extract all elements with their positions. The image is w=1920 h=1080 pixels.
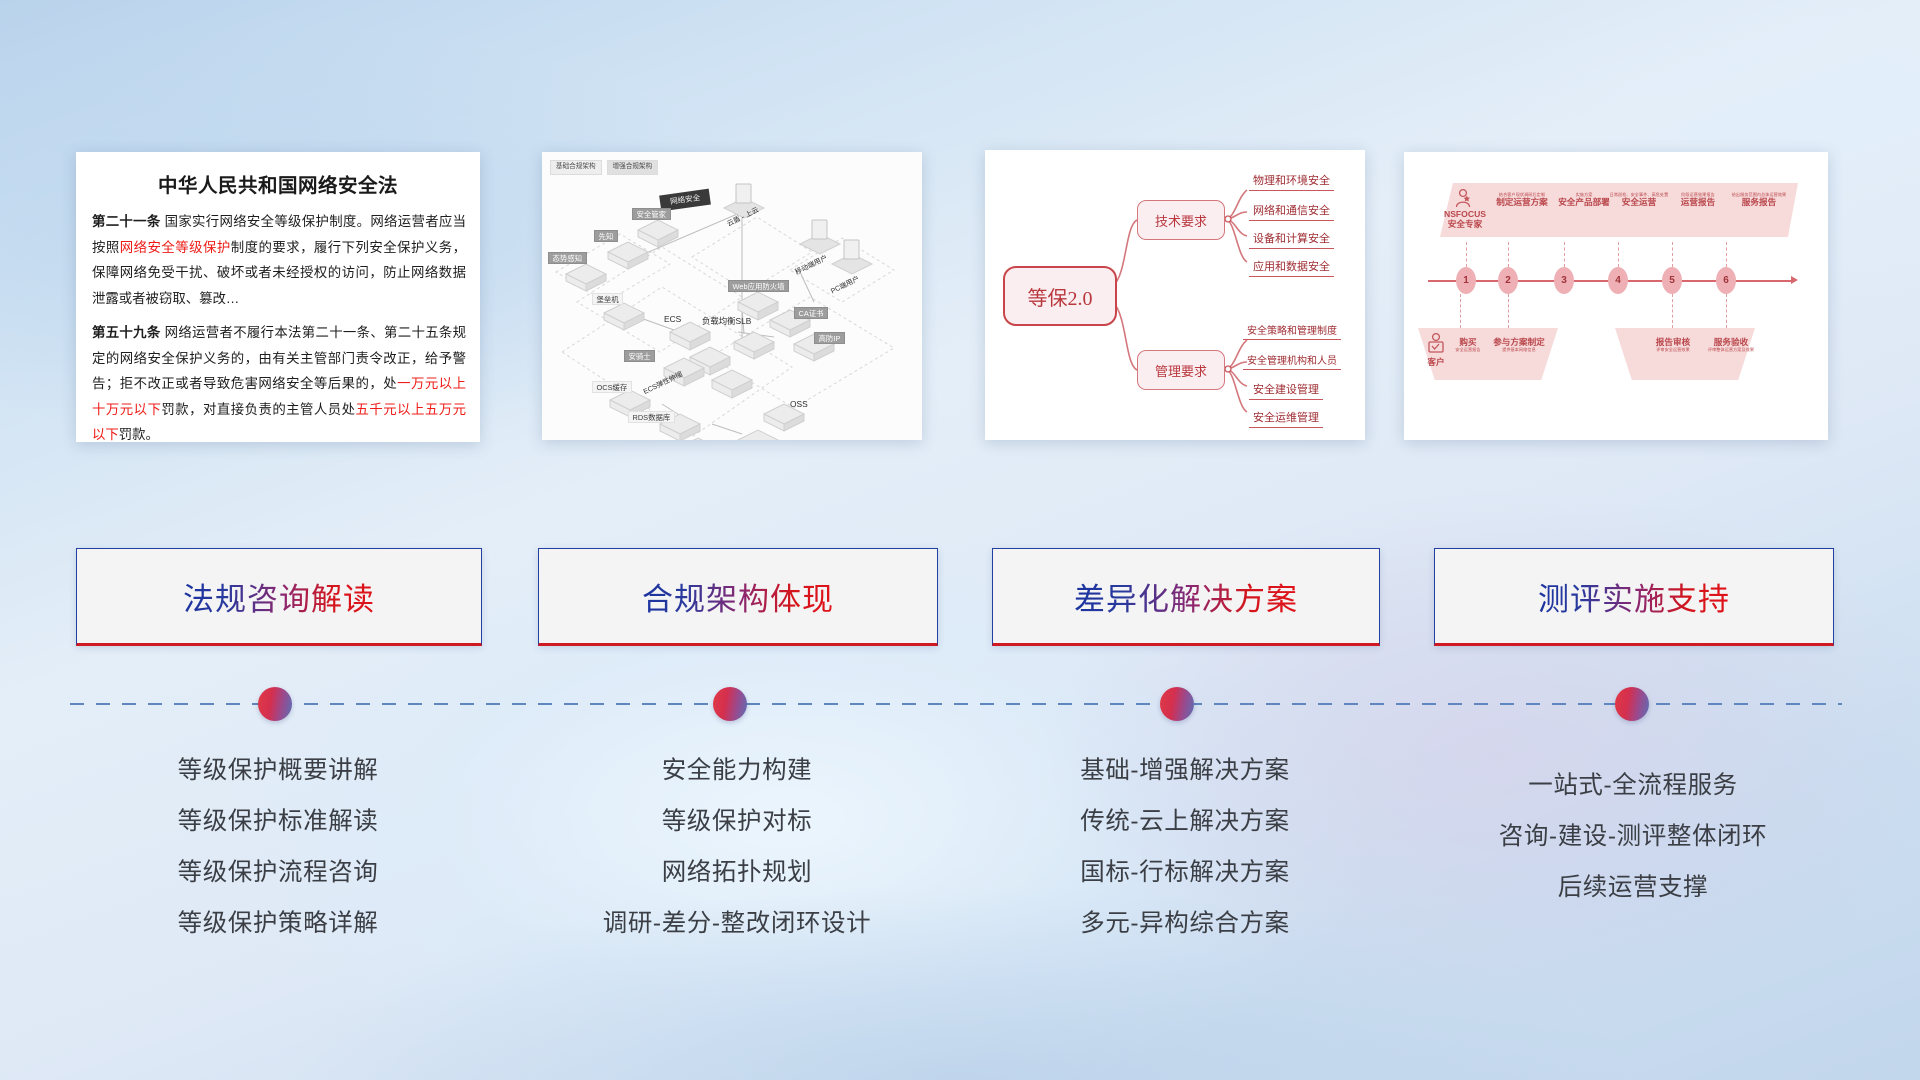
timeline-marker-3[interactable]: [1160, 687, 1194, 721]
card-cloud-architecture[interactable]: 基础合规架构 增强合规架构: [542, 152, 922, 440]
timeline-node-3: 3: [1554, 267, 1574, 294]
list-item: 多元-异构综合方案: [992, 898, 1378, 949]
node-waf: Web应用防火墙: [728, 280, 789, 292]
tick-b1: [1460, 294, 1462, 328]
section-title-label-4: 测评实施支持: [1538, 574, 1730, 619]
bottom-step-4: 服务验收 评审整体运营方案及效果: [1700, 338, 1762, 353]
section-title-label-2: 合规架构体现: [642, 574, 834, 619]
timeline-node-6: 6: [1716, 267, 1736, 294]
timeline-node-1: 1: [1456, 267, 1476, 294]
list-item: 一站式-全流程服务: [1434, 760, 1832, 811]
node-ca-certificate: CA证书: [794, 307, 828, 319]
list-item: 咨询-建设-测评整体闭环: [1434, 811, 1832, 862]
timeline-dashed-rail: [70, 703, 1842, 705]
list-item: 传统-云上解决方案: [992, 796, 1378, 847]
top-step-4: 阶段运营效果报告 运营报告: [1666, 193, 1730, 208]
mindmap-leaf-org-personnel: 安全管理机构和人员: [1243, 352, 1341, 370]
node-ocs-cache: OCS缓存: [592, 381, 632, 393]
bottom-step-3: 报告审核 评审安全运营效果: [1644, 338, 1702, 353]
timeline-marker-2[interactable]: [713, 687, 747, 721]
section-titles-row: 法规咨询解读 合规架构体现 差异化解决方案 测评实施支持: [0, 548, 1920, 658]
list-item: 基础-增强解决方案: [992, 745, 1378, 796]
mindmap-branch-management: 管理要求: [1137, 350, 1225, 390]
law-article-number-21: 第二十一条: [92, 214, 161, 229]
timeline-marker-1[interactable]: [258, 687, 292, 721]
list-item: 调研-差分-整改闭环设计: [538, 898, 936, 949]
architecture-canvas: 基础合规架构 增强合规架构: [542, 152, 922, 440]
node-slb: 负载均衡SLB: [702, 317, 751, 325]
list-item: 等级保护概要讲解: [76, 745, 480, 796]
mindmap-leaf-network-comm: 网络和通信安全: [1249, 202, 1334, 221]
mindmap-leaf-app-data: 应用和数据安全: [1249, 258, 1334, 277]
timeline-node-4: 4: [1608, 267, 1628, 294]
nsfocus-canvas: NSFOCUS 安全专家 结合客户现状调研后定制 制定运营方案 实施方案 安全产…: [1404, 152, 1828, 440]
node-situational-awareness: 态势感知: [548, 252, 587, 264]
tick-4: [1618, 242, 1620, 267]
node-anqishi: 安骑士: [624, 350, 655, 362]
section-title-box-2[interactable]: 合规架构体现: [538, 548, 938, 646]
law-seg: 罚款。: [119, 427, 159, 442]
node-rds-database: RDS数据库: [628, 411, 675, 423]
section-title-label-1: 法规咨询解读: [183, 574, 375, 619]
bottom-step-2: 参与方案制定 提供基本网络信息: [1486, 338, 1552, 353]
tick-b2: [1508, 294, 1510, 328]
law-paragraph-59: 第五十九条 网络运营者不履行本法第二十一条、第二十五条规定的网络安全保护义务的，…: [92, 320, 466, 442]
list-item: 等级保护对标: [538, 796, 936, 847]
section-title-label-3: 差异化解决方案: [1074, 574, 1298, 619]
section-lists-row: 等级保护概要讲解 等级保护标准解读 等级保护流程咨询 等级保护策略详解 安全能力…: [0, 745, 1920, 1035]
tick-3: [1564, 242, 1566, 267]
card-nsfocus-service-flow[interactable]: NSFOCUS 安全专家 结合客户现状调研后定制 制定运营方案 实施方案 安全产…: [1404, 152, 1828, 440]
section-title-box-3[interactable]: 差异化解决方案: [992, 548, 1380, 646]
node-bastion-host: 堡垒机: [592, 293, 623, 305]
tick-5: [1672, 242, 1674, 267]
customer-role-label: 客户: [1420, 358, 1452, 368]
preview-cards-row: 中华人民共和国网络安全法 第二十一条 国家实行网络安全等级保护制度。网络运营者应…: [0, 0, 1920, 470]
tick-6: [1726, 242, 1728, 267]
node-oss: OSS: [790, 400, 808, 408]
provider-role-label: NSFOCUS 安全专家: [1442, 210, 1488, 230]
section-title-box-4[interactable]: 测评实施支持: [1434, 548, 1834, 646]
mindmap-leaf-policy-system: 安全策略和管理制度: [1243, 322, 1341, 340]
card-cybersecurity-law[interactable]: 中华人民共和国网络安全法 第二十一条 国家实行网络安全等级保护制度。网络运营者应…: [76, 152, 480, 442]
section-title-box-1[interactable]: 法规咨询解读: [76, 548, 482, 646]
law-paragraph-21: 第二十一条 国家实行网络安全等级保护制度。网络运营者应当按照网络安全等级保护制度…: [92, 209, 466, 311]
customer-band-right: [1615, 328, 1755, 380]
customer-person-icon: [1426, 332, 1446, 358]
top-step-5: 给出服务范围内总体运营效果 服务报告: [1722, 193, 1796, 208]
tick-1: [1466, 242, 1468, 267]
timeline-arrow-icon: [1791, 276, 1798, 284]
list-item: 国标-行标解决方案: [992, 847, 1378, 898]
tick-2: [1508, 242, 1510, 267]
timeline-marker-4[interactable]: [1615, 687, 1649, 721]
mindmap-leaf-construction: 安全建设管理: [1249, 381, 1323, 400]
list-item: 等级保护策略详解: [76, 898, 480, 949]
section-list-3: 基础-增强解决方案 传统-云上解决方案 国标-行标解决方案 多元-异构综合方案: [992, 745, 1378, 949]
mindmap-leaf-operations: 安全运维管理: [1249, 409, 1323, 428]
list-item: 后续运营支撑: [1434, 862, 1832, 913]
node-ecs: ECS: [664, 315, 681, 323]
section-list-1: 等级保护概要讲解 等级保护标准解读 等级保护流程咨询 等级保护策略详解: [76, 745, 480, 949]
bottom-step-1: 购买 安全运营报告: [1446, 338, 1490, 353]
mindmap-leaf-physical-env: 物理和环境安全: [1249, 172, 1334, 191]
node-xianzhi: 先知: [594, 230, 618, 242]
mindmap-leaf-device-compute: 设备和计算安全: [1249, 230, 1334, 249]
law-seg-highlight: 网络安全等级保护: [120, 240, 231, 255]
mindmap-root-node: 等保2.0: [1003, 266, 1117, 326]
list-item: 安全能力构建: [538, 745, 936, 796]
card-dengbao-mindmap[interactable]: 等保2.0 技术要求 管理要求 物理和环境安全 网络和通信安全 设备和计算安全 …: [985, 150, 1365, 440]
timeline-node-2: 2: [1498, 267, 1518, 294]
expert-person-icon: [1452, 188, 1474, 210]
top-step-3: 日常巡检、安全事件、高危处置 安全运营: [1604, 193, 1674, 208]
section-list-4: 一站式-全流程服务 咨询-建设-测评整体闭环 后续运营支撑: [1434, 760, 1832, 913]
law-body: 第二十一条 国家实行网络安全等级保护制度。网络运营者应当按照网络安全等级保护制度…: [76, 209, 480, 442]
tick-b4: [1726, 294, 1728, 328]
node-security-butler: 安全管家: [632, 208, 671, 220]
timeline-node-5: 5: [1662, 267, 1682, 294]
list-item: 等级保护流程咨询: [76, 847, 480, 898]
tick-b3: [1672, 294, 1674, 328]
mindmap-canvas: 等保2.0 技术要求 管理要求 物理和环境安全 网络和通信安全 设备和计算安全 …: [985, 150, 1365, 440]
mindmap-branch-technical: 技术要求: [1137, 200, 1225, 240]
law-article-number-59: 第五十九条: [92, 325, 161, 340]
section-list-2: 安全能力构建 等级保护对标 网络拓扑规划 调研-差分-整改闭环设计: [538, 745, 936, 949]
list-item: 等级保护标准解读: [76, 796, 480, 847]
law-seg: 罚款，对直接负责的主管人员处: [161, 402, 355, 417]
list-item: 网络拓扑规划: [538, 847, 936, 898]
law-title: 中华人民共和国网络安全法: [76, 169, 480, 198]
node-anti-ddos-ip: 高防IP: [814, 332, 845, 344]
